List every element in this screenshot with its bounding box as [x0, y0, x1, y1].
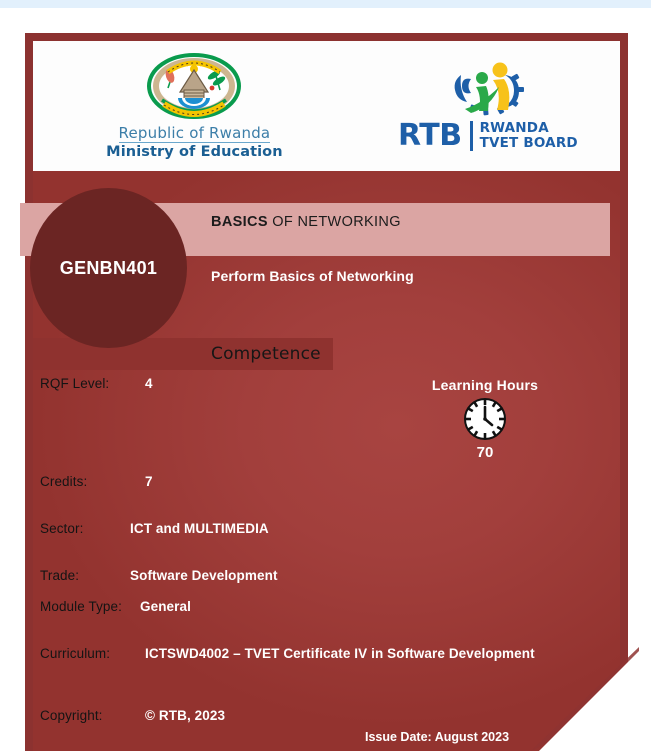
gov-line-2: Ministry of Education [106, 144, 283, 160]
rtb-subtitle-line-2: TVET BOARD [480, 135, 578, 151]
detail-label-sector: Sector: [40, 521, 130, 536]
rtb-acronym: RTB [398, 121, 462, 151]
module-code-badge: GENBN401 [30, 188, 187, 348]
detail-value-credits: 7 [145, 474, 153, 489]
detail-label-trade: Trade: [40, 568, 130, 583]
module-title-bold: BASICS [211, 214, 268, 230]
detail-label-copyright: Copyright: [40, 708, 145, 723]
learning-hours-value: 70 [420, 444, 550, 461]
rtb-branding: RTB RWANDA TVET BOARD [356, 61, 620, 151]
detail-value-curriculum: ICTSWD4002 – TVET Certificate IV in Soft… [145, 646, 535, 661]
module-title: BASICS OF NETWORKING [211, 214, 401, 230]
government-branding: Republic of Rwanda Ministry of Education [33, 52, 356, 161]
detail-value-rqf-level: 4 [145, 376, 153, 391]
detail-label-rqf-level: RQF Level: [40, 376, 145, 391]
module-title-rest: OF NETWORKING [268, 214, 401, 230]
detail-row-rqf-level: RQF Level:4 [40, 375, 153, 393]
clock-icon [462, 396, 508, 442]
module-code-label: GENBN401 [60, 258, 157, 279]
detail-row-credits: Credits:7 [40, 473, 153, 491]
detail-label-curriculum: Curriculum: [40, 646, 145, 661]
detail-row-trade: Trade:Software Development [40, 567, 278, 585]
rtb-subtitle: RWANDA TVET BOARD [480, 121, 578, 150]
learning-hours-block: Learning Hours 70 [420, 377, 550, 461]
detail-value-copyright: © RTB, 2023 [145, 708, 225, 723]
detail-value-sector: ICT and MULTIMEDIA [130, 521, 269, 536]
issue-date: Issue Date: August 2023 [365, 730, 509, 744]
detail-label-module-type: Module Type: [40, 599, 140, 614]
logo-header: Republic of Rwanda Ministry of Education [33, 41, 620, 171]
learning-hours-title: Learning Hours [420, 377, 550, 393]
rwanda-coat-of-arms-icon [146, 52, 242, 126]
detail-label-credits: Credits: [40, 474, 145, 489]
detail-row-sector: Sector:ICT and MULTIMEDIA [40, 520, 269, 538]
detail-value-trade: Software Development [130, 568, 278, 583]
gov-line-1: Republic of Rwanda [119, 126, 271, 144]
detail-row-copyright: Copyright:© RTB, 2023 [40, 707, 225, 725]
rtb-emblem-icon [445, 61, 531, 119]
competence-label: Competence [211, 344, 321, 364]
rtb-divider [470, 121, 473, 151]
top-accent-strip [0, 0, 651, 8]
rtb-wordmark: RTB RWANDA TVET BOARD [398, 121, 578, 151]
module-subtitle: Perform Basics of Networking [211, 268, 414, 284]
detail-value-module-type: General [140, 599, 191, 614]
detail-row-curriculum: Curriculum:ICTSWD4002 – TVET Certificate… [40, 645, 535, 663]
detail-row-module-type: Module Type:General [40, 598, 191, 616]
